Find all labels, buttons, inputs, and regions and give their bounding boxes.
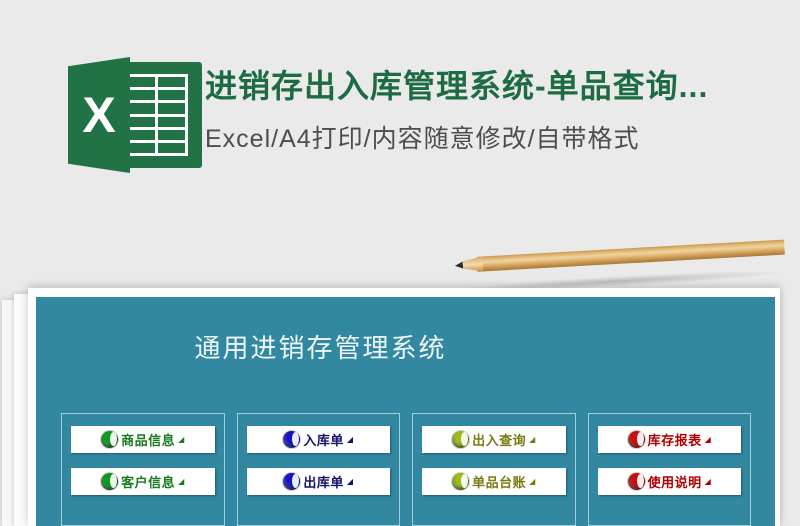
menu-button-inout-query[interactable]: 出入查询 ◢ — [422, 426, 566, 453]
menu-button-item-ledger[interactable]: 单品台账 ◢ — [422, 468, 566, 495]
menu-button-label: 单品台账 — [472, 472, 526, 491]
menu-button-label: 库存报表 — [648, 430, 702, 449]
template-preview-panel: 通用进销存管理系统 商品信息 ◢ 客户信息 ◢ 入库单 ◢ — [36, 297, 775, 526]
status-orb-icon — [101, 473, 118, 490]
corner-marker-icon: ◢ — [347, 478, 353, 486]
menu-button-stock-report[interactable]: 库存报表 ◢ — [598, 426, 742, 453]
pencil-wood-cone — [461, 256, 484, 272]
menu-button-product-info[interactable]: 商品信息 ◢ — [71, 426, 215, 453]
status-orb-icon — [628, 473, 645, 490]
corner-marker-icon: ◢ — [705, 478, 711, 486]
corner-marker-icon: ◢ — [529, 436, 535, 444]
pencil-graphite-tip — [455, 262, 463, 269]
panel-title: 通用进销存管理系统 — [36, 328, 690, 365]
pencil-body — [476, 240, 784, 272]
excel-x-letter: X — [68, 57, 130, 173]
menu-button-customer-info[interactable]: 客户信息 ◢ — [71, 468, 215, 495]
menu-button-instructions[interactable]: 使用说明 ◢ — [598, 468, 742, 495]
corner-marker-icon: ◢ — [529, 478, 535, 486]
column-query: 出入查询 ◢ 单品台账 ◢ — [412, 413, 576, 526]
excel-logo: X — [68, 57, 202, 173]
status-orb-icon — [452, 473, 469, 490]
status-orb-icon — [452, 431, 469, 448]
corner-marker-icon: ◢ — [178, 478, 184, 486]
status-orb-icon — [101, 431, 118, 448]
menu-button-label: 出入查询 — [472, 430, 526, 449]
status-orb-icon — [283, 473, 300, 490]
menu-button-label: 入库单 — [303, 430, 344, 449]
status-orb-icon — [628, 431, 645, 448]
column-report: 库存报表 ◢ 使用说明 ◢ — [588, 413, 752, 526]
menu-button-label: 出库单 — [303, 472, 344, 491]
corner-marker-icon: ◢ — [347, 436, 353, 444]
page-title: 进销存出入库管理系统-单品查询... — [205, 66, 795, 106]
page-subtitle: Excel/A4打印/内容随意修改/自带格式 — [205, 124, 795, 155]
column-inbound: 入库单 ◢ 出库单 ◢ — [237, 413, 401, 526]
menu-button-outbound-order[interactable]: 出库单 ◢ — [247, 468, 391, 495]
corner-marker-icon: ◢ — [705, 436, 711, 444]
menu-button-label: 使用说明 — [648, 472, 702, 491]
menu-button-inbound-order[interactable]: 入库单 ◢ — [247, 426, 391, 453]
status-orb-icon — [283, 431, 300, 448]
corner-marker-icon: ◢ — [178, 436, 184, 444]
header-banner: X 进销存出入库管理系统-单品查询... Excel/A4打印/内容随意修改/自… — [0, 0, 800, 230]
title-block: 进销存出入库管理系统-单品查询... Excel/A4打印/内容随意修改/自带格… — [205, 66, 795, 155]
menu-columns: 商品信息 ◢ 客户信息 ◢ 入库单 ◢ 出库单 ◢ — [61, 413, 751, 526]
menu-button-label: 客户信息 — [121, 472, 175, 491]
column-product: 商品信息 ◢ 客户信息 ◢ — [61, 413, 225, 526]
menu-button-label: 商品信息 — [121, 430, 175, 449]
